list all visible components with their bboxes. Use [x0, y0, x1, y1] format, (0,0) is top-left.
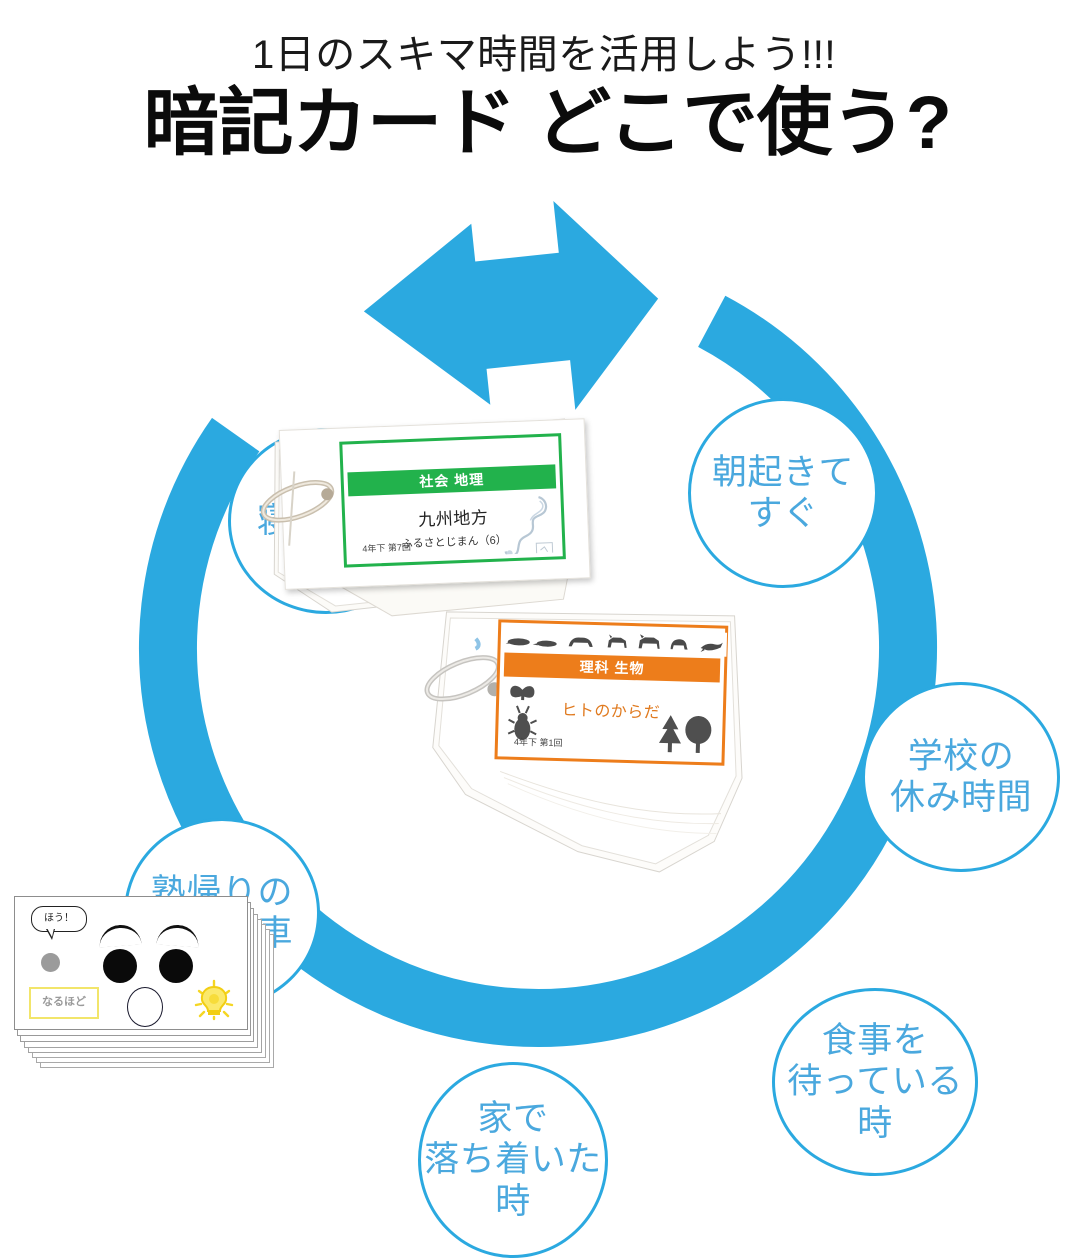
- flashcard-stack-orange[interactable]: 理科 生物 ヒトのからだ 4年下 第1回: [435, 594, 751, 818]
- poster-canvas: 1日のスキマ時間を活用しよう!!! 暗記カード どこで使う? 夜 寝る前に 15…: [0, 0, 1080, 1080]
- flashcard-footer-orange: 4年下 第1回: [514, 735, 563, 749]
- poster-subtitle: 1日のスキマ時間を活用しよう!!!: [0, 30, 1080, 80]
- cycle-node-school[interactable]: 学校の 休み時間: [862, 682, 1060, 872]
- animal-silhouettes-icon: [505, 627, 728, 657]
- flashcard-subject-orange: 理科 生物: [504, 653, 721, 683]
- cycle-node-home[interactable]: 家で 落ち着いた 時: [418, 1062, 608, 1258]
- eyebrow-left-icon: [98, 924, 141, 948]
- fun-card-front: ほう！ なるほど: [14, 896, 248, 1030]
- mouth-icon: [127, 987, 163, 1027]
- arrow-right-icon: [354, 200, 668, 431]
- flashcard-face-green: 社会 地理 九州地方 ふるさとじまん（6） 4年下 第7回: [339, 433, 566, 567]
- tree-silhouettes-icon: [656, 711, 713, 755]
- cycle-node-morning-label: 朝起きて すぐ: [691, 452, 875, 535]
- flashcard-stack-green[interactable]: 社会 地理 九州地方 ふるさとじまん（6） 4年下 第7回: [268, 406, 605, 619]
- eyebrow-right-icon: [156, 924, 199, 948]
- naruhodo-tag: なるほど: [29, 987, 99, 1019]
- cycle-node-home-label: 家で 落ち着いた 時: [421, 1098, 605, 1222]
- gray-dot-icon: [41, 953, 60, 972]
- cycle-node-morning[interactable]: 朝起きて すぐ: [688, 398, 878, 588]
- metal-ring-icon: [248, 460, 347, 550]
- lightbulb-icon: [193, 979, 235, 1021]
- fun-card-stack[interactable]: ほう！ なるほど: [14, 896, 272, 1066]
- flashcard-body-orange: ヒトのからだ 4年下 第1回: [502, 680, 720, 758]
- flashcard-body-green: 九州地方 ふるさとじまん（6） 4年下 第7回: [348, 492, 558, 560]
- eye-right-icon: [159, 949, 193, 983]
- flashcard-subject-green: 社会 地理: [347, 464, 556, 496]
- japan-map-icon: [498, 495, 554, 561]
- flashcard-face-orange: 理科 生物 ヒトのからだ 4年下 第1回: [494, 619, 728, 765]
- page-title: 暗記カード どこで使う?: [0, 80, 1080, 166]
- cycle-node-meal-label: 食事を 待っている時: [775, 1020, 975, 1144]
- eye-left-icon: [103, 949, 137, 983]
- flashcard-footer-green: 4年下 第7回: [362, 540, 411, 555]
- cycle-node-school-label: 学校の 休み時間: [865, 736, 1057, 819]
- cycle-node-meal[interactable]: 食事を 待っている時: [772, 988, 978, 1176]
- speech-bubble: ほう！: [31, 906, 87, 932]
